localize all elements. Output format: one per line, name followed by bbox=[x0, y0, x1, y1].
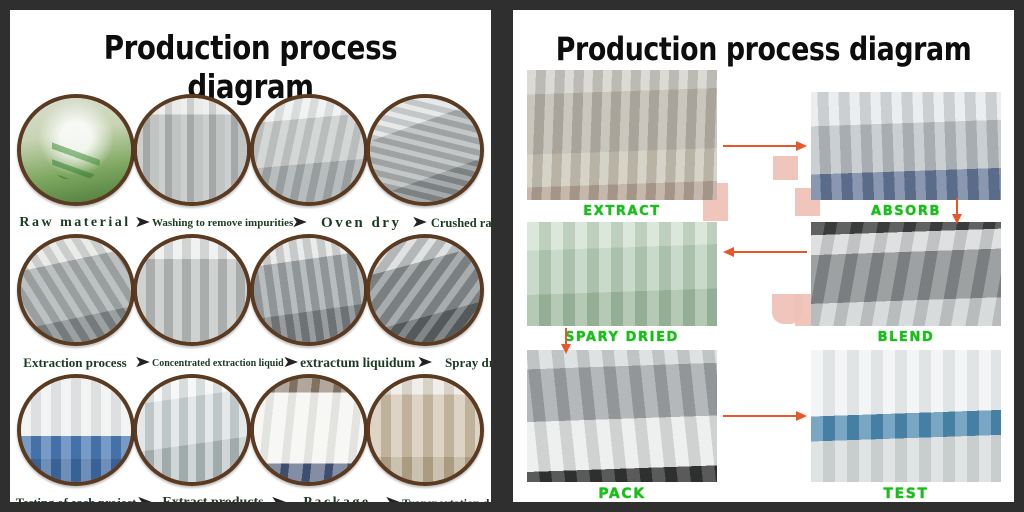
arrow-right-icon-1: ➤ bbox=[134, 215, 154, 231]
arrow-right-icon-2: ➤ bbox=[291, 215, 311, 231]
arrow-right-icon-4: ➤ bbox=[134, 355, 154, 371]
extraction-photo bbox=[17, 234, 135, 346]
flow-cell-absorb[interactable]: ABSORB bbox=[811, 92, 1001, 200]
label-extract: EXTRACT bbox=[527, 204, 717, 219]
arrow-right-icon-7: ➤ bbox=[136, 495, 156, 502]
caption-extract-products: Extract products bbox=[154, 495, 272, 502]
arrow-extract-to-absorb-icon bbox=[723, 140, 807, 152]
absorb-vessels-photo bbox=[811, 92, 1001, 200]
step-cell-raw-material[interactable] bbox=[18, 94, 134, 206]
spray-dryer-photo bbox=[527, 222, 717, 326]
caption-oven-dry: Oven dry bbox=[309, 215, 413, 232]
caption-raw-material: Raw material bbox=[14, 215, 136, 231]
step-cell-concentrated[interactable] bbox=[134, 234, 250, 346]
washing-photo bbox=[133, 94, 251, 206]
step-cell-extract-products[interactable] bbox=[134, 374, 250, 486]
testing-lab-photo bbox=[17, 374, 135, 486]
left-step-row-2 bbox=[18, 234, 483, 346]
flow-cell-pack[interactable]: PACK bbox=[527, 350, 717, 482]
concentration-photo bbox=[133, 234, 251, 346]
flow-cell-spary-dried[interactable]: SPARY DRIED bbox=[527, 222, 717, 326]
label-absorb: ABSORB bbox=[811, 204, 1001, 219]
blender-photo bbox=[811, 222, 1001, 326]
extractum-liquidum-photo bbox=[250, 234, 368, 346]
label-pack: PACK bbox=[527, 486, 717, 502]
left-diagram-panel: Production process diagram Raw material … bbox=[10, 10, 491, 502]
step-cell-spray-drying[interactable] bbox=[367, 234, 483, 346]
left-step-row-1 bbox=[18, 94, 483, 206]
arrow-absorb-to-blend-icon bbox=[951, 198, 963, 224]
flow-cell-test[interactable]: TEST bbox=[811, 350, 1001, 482]
step-cell-transportation[interactable] bbox=[367, 374, 483, 486]
extract-tanks-photo bbox=[527, 70, 717, 200]
arrow-right-icon-5: ➤ bbox=[282, 355, 300, 371]
caption-testing: Testing of each project bbox=[14, 496, 138, 503]
left-caption-row-3: Testing of each project ➤ Extract produc… bbox=[14, 491, 487, 502]
label-test: TEST bbox=[811, 486, 1001, 502]
raw-material-photo bbox=[17, 94, 135, 206]
step-cell-testing[interactable] bbox=[18, 374, 134, 486]
right-diagram-panel: Production process diagram EXTRACT ABSOR… bbox=[513, 10, 1014, 502]
left-caption-row-1: Raw material ➤ Washing to remove impurit… bbox=[14, 211, 487, 235]
caption-transportation: Transportation delivery bbox=[402, 496, 491, 503]
caption-concentrated: Concentrated extraction liquid bbox=[152, 358, 284, 369]
right-panel-title: Production process diagram bbox=[553, 30, 974, 68]
flow-cell-extract[interactable]: EXTRACT bbox=[527, 70, 717, 200]
lab-testing-photo bbox=[811, 350, 1001, 482]
arrow-blend-to-spray-icon bbox=[723, 246, 807, 258]
step-cell-extraction[interactable] bbox=[18, 234, 134, 346]
label-blend: BLEND bbox=[811, 330, 1001, 345]
extract-products-photo bbox=[133, 374, 251, 486]
step-cell-oven-dry[interactable] bbox=[251, 94, 367, 206]
left-caption-row-2: Extraction process ➤ Concentrated extrac… bbox=[14, 351, 487, 375]
oven-dry-photo bbox=[250, 94, 368, 206]
spray-drying-photo bbox=[366, 234, 484, 346]
artifact-blotch-1 bbox=[773, 156, 798, 180]
left-step-row-3 bbox=[18, 374, 483, 486]
right-flow-grid: EXTRACT ABSORB SPARY DRIED BLEND PACK bbox=[527, 70, 1001, 490]
crushing-photo bbox=[366, 94, 484, 206]
label-spary-dried: SPARY DRIED bbox=[527, 330, 717, 345]
transportation-photo bbox=[366, 374, 484, 486]
caption-crushed: Crushed raw materials bbox=[429, 216, 491, 231]
step-cell-extractum[interactable] bbox=[251, 234, 367, 346]
arrow-right-icon-6: ➤ bbox=[416, 355, 434, 371]
flow-cell-blend[interactable]: BLEND bbox=[811, 222, 1001, 326]
arrow-spray-to-pack-icon bbox=[560, 328, 572, 354]
step-cell-package[interactable] bbox=[251, 374, 367, 486]
screenshot-root: Production process diagram Raw material … bbox=[0, 0, 1024, 512]
packing-photo bbox=[527, 350, 717, 482]
step-cell-crushed[interactable] bbox=[367, 94, 483, 206]
arrow-right-icon-3: ➤ bbox=[411, 215, 431, 231]
caption-extractum: extractum liquidum bbox=[298, 355, 418, 371]
package-photo bbox=[250, 374, 368, 486]
arrow-pack-to-test-icon bbox=[723, 410, 807, 422]
arrow-right-icon-8: ➤ bbox=[270, 495, 290, 502]
caption-package: Package bbox=[288, 495, 386, 502]
caption-spray-drying: Spray drying bbox=[432, 355, 491, 371]
caption-extraction-process: Extraction process bbox=[14, 355, 136, 371]
step-cell-washing[interactable] bbox=[134, 94, 250, 206]
arrow-right-icon-9: ➤ bbox=[384, 495, 404, 502]
caption-washing: Washing to remove impurities bbox=[152, 217, 293, 229]
